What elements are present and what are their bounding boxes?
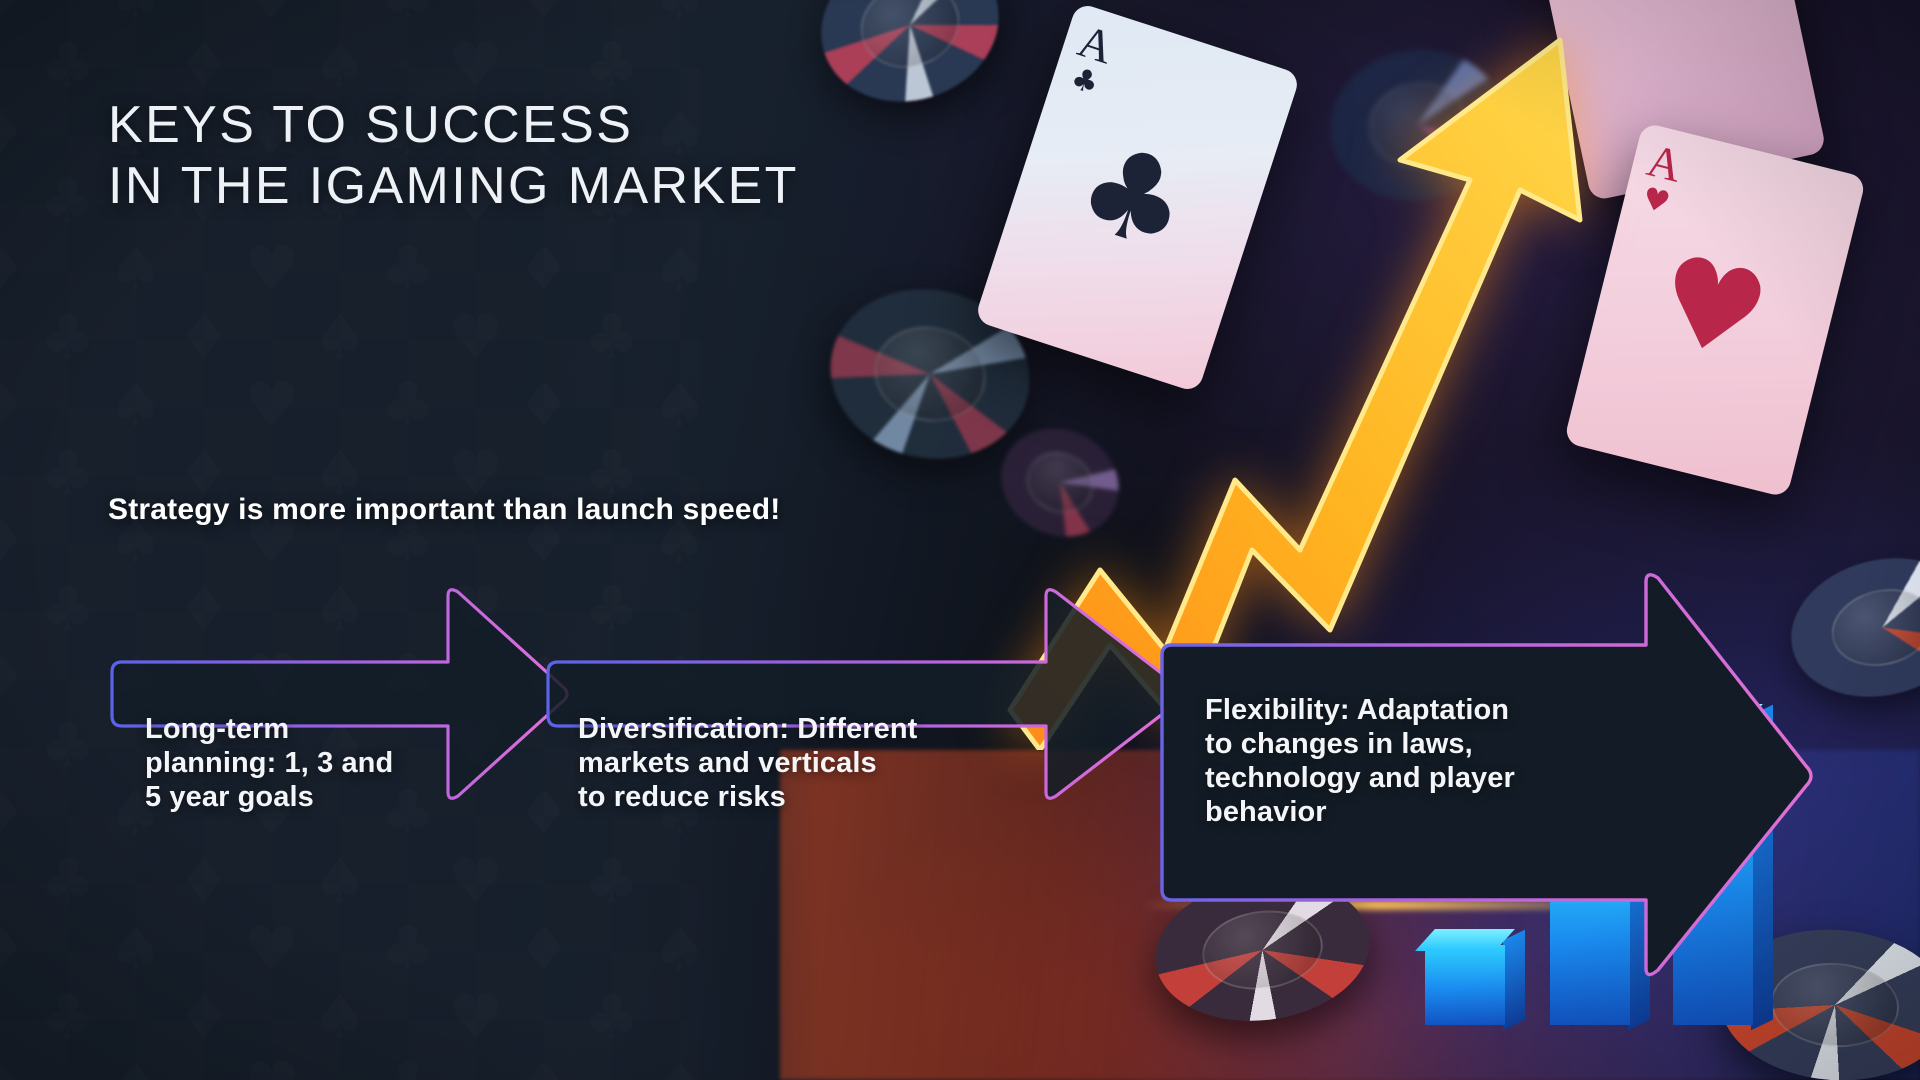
process-arrow-2-label: Diversification: Different markets and v… [578,712,1068,814]
process-arrow-diagram [0,0,1920,1080]
slide-canvas: ♠ A ♣ ♣ A ♥ ♥ ♥♣♦♠♥♣♦♠♥♣♦♠♥♣♦♠♥♣♦♠♥♣♦♠♥♣… [0,0,1920,1080]
process-arrow-1-label: Long-term planning: 1, 3 and 5 year goal… [145,712,475,814]
process-arrow-3-label: Flexibility: Adaptation to changes in la… [1205,693,1675,829]
